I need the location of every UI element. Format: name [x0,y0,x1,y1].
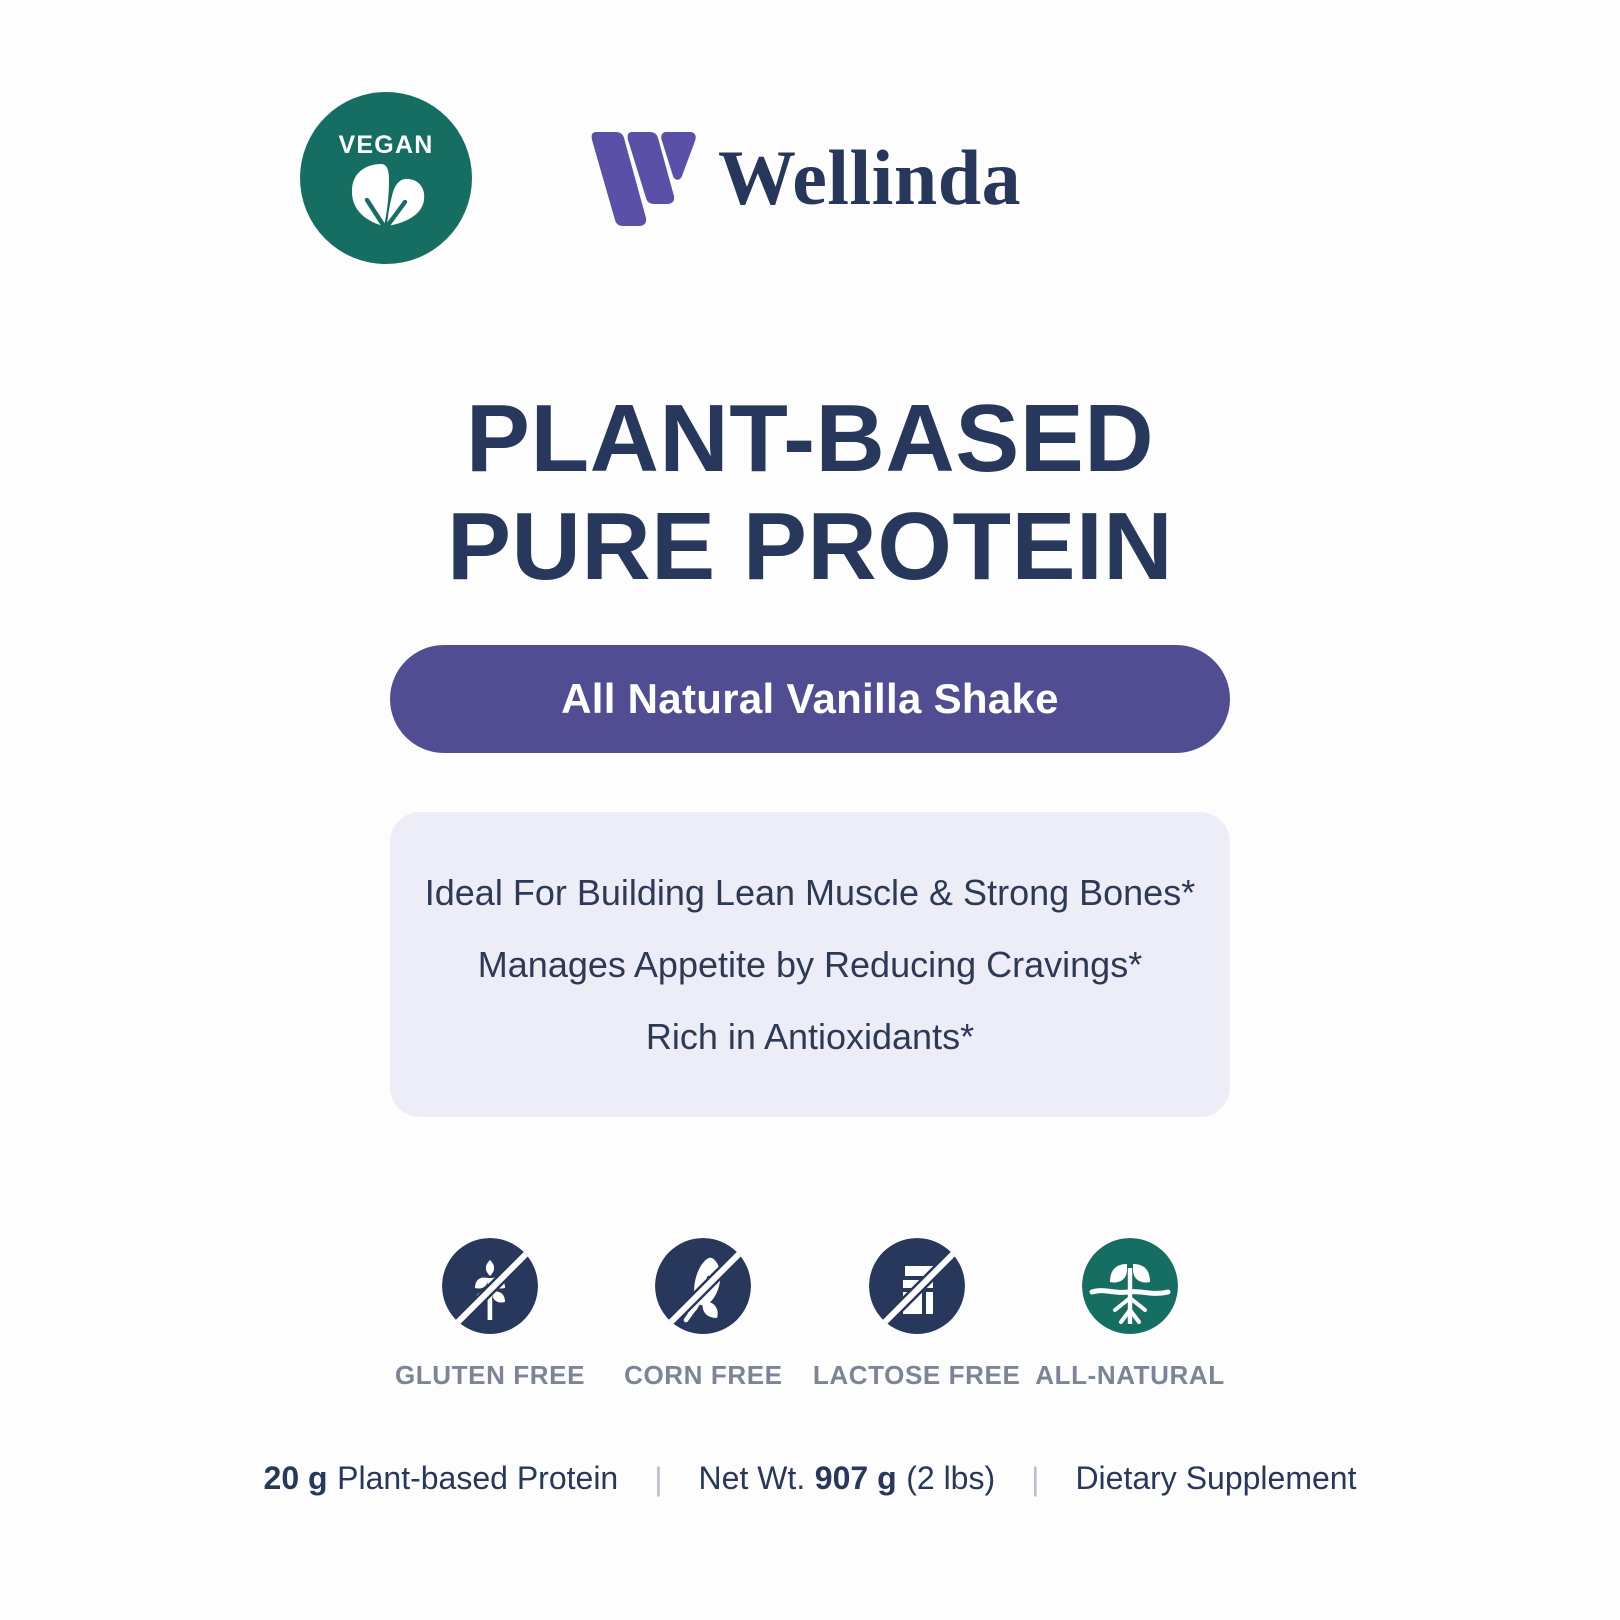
benefit-item: Ideal For Building Lean Muscle & Strong … [425,857,1195,929]
footer-supplement-type: Dietary Supplement [1075,1460,1356,1497]
footer-separator: | [654,1463,662,1495]
footer-net-wt-amount: 907 g [815,1460,897,1497]
brand-lockup: Wellinda [590,126,1021,230]
page-title: PLANT-BASED PURE PROTEIN [0,385,1620,602]
certification-label: GLUTEN FREE [395,1360,585,1391]
certification-label: LACTOSE FREE [813,1360,1021,1391]
benefit-item: Rich in Antioxidants* [646,1001,974,1073]
corn-cob-crossed-out-icon [655,1238,751,1334]
footer-supplement-text: Dietary Supplement [1075,1460,1356,1497]
footer-protein-text: Plant-based Protein [337,1460,618,1497]
sprout-with-roots-icon [1082,1238,1178,1334]
footer-net-wt-suffix: (2 lbs) [906,1460,995,1497]
certifications-row: GLUTEN FREE [390,1238,1230,1391]
certification-item-gluten-free: GLUTEN FREE [390,1238,590,1391]
product-title-line-2: PURE PROTEIN [0,493,1620,601]
footer-net-weight: Net Wt.907 g(2 lbs) [699,1460,996,1497]
product-label: VEGAN Wellinda PLANT-B [0,0,1620,1620]
footer-separator: | [1031,1463,1039,1495]
two-leaves-icon [343,162,429,228]
footer-specs: 20 gPlant-based Protein | Net Wt.907 g(2… [0,1460,1620,1497]
wellinda-w-monogram-icon [590,126,698,230]
vegan-badge: VEGAN [300,92,472,264]
brand-name: Wellinda [718,139,1021,217]
flavor-banner: All Natural Vanilla Shake [390,645,1230,753]
vegan-badge-label: VEGAN [339,133,434,158]
label-header: VEGAN Wellinda [300,88,1021,268]
wheat-stalk-crossed-out-icon [442,1238,538,1334]
certification-item-lactose-free: LACTOSE FREE [817,1238,1017,1391]
footer-protein: 20 gPlant-based Protein [264,1460,619,1497]
footer-net-wt-prefix: Net Wt. [699,1460,806,1497]
flavor-banner-label: All Natural Vanilla Shake [561,675,1059,723]
footer-protein-amount: 20 g [264,1460,328,1497]
milk-carton-crossed-out-icon [869,1238,965,1334]
benefit-item: Manages Appetite by Reducing Cravings* [478,929,1142,1001]
certification-item-corn-free: CORN FREE [603,1238,803,1391]
benefits-panel: Ideal For Building Lean Muscle & Strong … [390,812,1230,1117]
certification-label: ALL-NATURAL [1035,1360,1225,1391]
product-title-line-1: PLANT-BASED [466,385,1154,492]
certification-label: CORN FREE [624,1360,783,1391]
certification-item-all-natural: ALL-NATURAL [1030,1238,1230,1391]
